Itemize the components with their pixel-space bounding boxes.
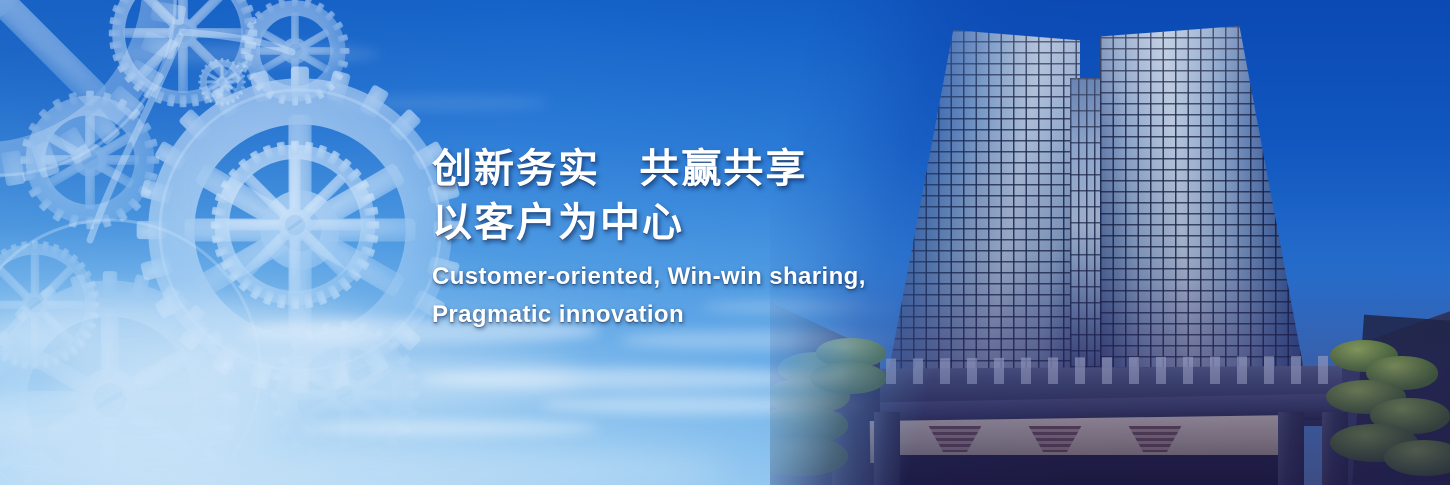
subheadline-en: Customer-oriented, Win-win sharing, Prag… — [432, 258, 952, 334]
gear-bottom-right — [271, 321, 420, 470]
gears-illustration — [0, 0, 500, 485]
subheadline-en-line-2: Pragmatic innovation — [432, 296, 952, 334]
entrance-doorway — [880, 455, 1300, 485]
headline-cn-line-2: 以客户为中心 — [432, 196, 952, 250]
entrance-column — [874, 412, 900, 485]
headline-cn-line-1: 创新务实 共赢共享 — [432, 142, 952, 196]
gear-midleft — [21, 91, 160, 230]
gear-inner-main — [211, 141, 379, 309]
entrance-column — [1278, 412, 1304, 485]
hero-banner: 创新务实 共赢共享 以客户为中心 Customer-oriented, Win-… — [0, 0, 1450, 485]
gear-tiny — [198, 58, 246, 106]
topiary-tree-left — [810, 362, 886, 394]
subheadline-en-line-1: Customer-oriented, Win-win sharing, — [432, 258, 952, 296]
headline-copy: 创新务实 共赢共享 以客户为中心 Customer-oriented, Win-… — [432, 142, 952, 334]
